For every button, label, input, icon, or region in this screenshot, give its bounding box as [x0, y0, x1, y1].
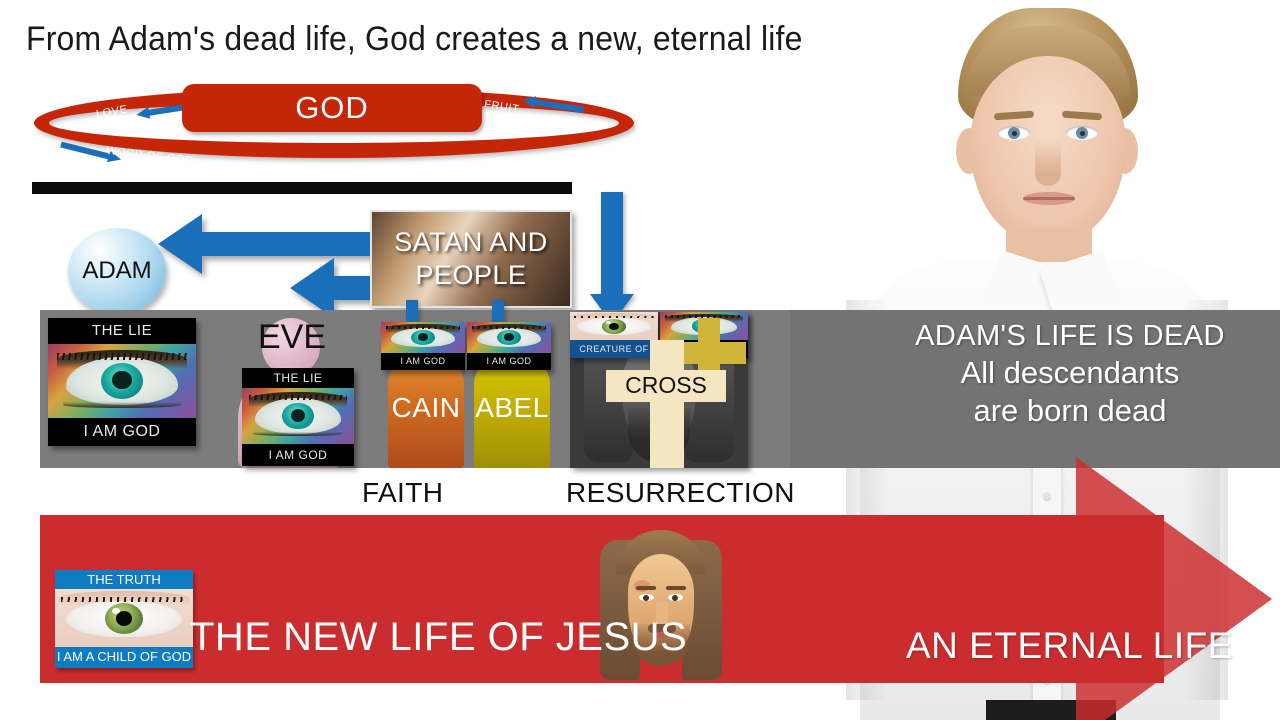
cross-label: CROSS	[606, 368, 726, 402]
eve-lie-card-bottom-caption: I AM GOD	[242, 444, 354, 466]
portrait-nose	[1035, 140, 1061, 186]
slide-title: From Adam's dead life, God creates a new…	[26, 18, 803, 60]
message-line-1: ADAM'S LIFE IS DEAD	[860, 318, 1280, 354]
god-to-cross-arrow-icon	[590, 192, 634, 324]
adam-label: ADAM	[68, 228, 166, 314]
eye-pupil	[418, 333, 429, 340]
eye-artwork-icon	[48, 344, 196, 418]
adams-life-dead-message: ADAM'S LIFE IS DEAD All descendants are …	[860, 318, 1280, 430]
adam-lie-card-top-caption: THE LIE	[48, 318, 196, 344]
eye-lashes	[57, 353, 187, 360]
the-truth-card-bottom-caption: I AM A CHILD OF GOD	[55, 647, 193, 666]
portrait-lip-line	[1023, 197, 1075, 200]
the-truth-card: THE TRUTH I AM A CHILD OF GOD	[55, 570, 193, 668]
new-life-of-jesus-label: THE NEW LIFE OF JESUS	[190, 614, 687, 660]
abel-figure: ABEL	[474, 358, 550, 468]
an-eternal-life-label: AN ETERNAL LIFE	[906, 624, 1233, 668]
cross-symbol: CROSS	[606, 340, 726, 468]
satan-label-line-1: SATAN AND	[394, 226, 548, 259]
eye-lashes	[386, 326, 460, 329]
abel-name-label: ABEL	[474, 392, 550, 424]
jesus-portrait-eyebrow-right	[666, 586, 686, 590]
portrait-shirt-button	[1043, 492, 1051, 500]
god-box: GOD	[182, 84, 482, 132]
eye-artwork-icon	[242, 388, 354, 444]
eve-lie-card-top-caption: THE LIE	[242, 368, 354, 388]
cain-name-label: CAIN	[388, 392, 464, 424]
eye-photo-icon	[55, 589, 193, 647]
eve-lie-card: THE LIE I AM GOD	[242, 368, 354, 466]
satan-to-adam-arrow-bottom-icon	[290, 258, 380, 318]
faith-label: FAITH	[362, 477, 443, 509]
adam-lie-card-bottom-caption: I AM GOD	[48, 418, 196, 446]
eye-lower-lid	[253, 432, 343, 436]
abel-lie-card: I AM GOD	[467, 322, 551, 370]
portrait-pupil-left	[1012, 131, 1017, 136]
message-line-2: All descendants	[860, 354, 1280, 392]
black-divider-bar	[32, 182, 572, 194]
eve-name-label: EVE	[238, 318, 346, 357]
eye-lashes	[61, 597, 188, 602]
portrait-pupil-right	[1080, 131, 1085, 136]
eye-lower-lid	[63, 402, 181, 408]
satan-and-people-box: SATAN AND PEOPLE	[370, 210, 572, 308]
satan-label-line-2: PEOPLE	[415, 259, 526, 292]
eye-pupil	[504, 333, 515, 340]
arrow-shaft	[202, 232, 378, 256]
jesus-portrait-eyebrow-left	[636, 586, 656, 590]
message-line-3: are born dead	[860, 392, 1280, 430]
the-truth-card-top-caption: THE TRUTH	[55, 570, 193, 589]
slide-canvas: From Adam's dead life, God creates a new…	[0, 0, 1280, 720]
arrow-head	[158, 214, 202, 274]
cain-lie-card-bottom-caption: I AM GOD	[381, 353, 465, 370]
eye-lashes	[472, 326, 546, 329]
eye-photo-icon	[570, 312, 658, 340]
adam-lie-card: THE LIE I AM GOD	[48, 318, 196, 446]
adam-sphere: ADAM	[68, 228, 166, 314]
eye-artwork-icon	[381, 322, 465, 353]
resurrection-label: RESURRECTION	[566, 477, 795, 509]
eye-highlight	[112, 608, 120, 614]
cross-vertical-beam	[650, 340, 684, 468]
cain-figure: CAIN	[388, 358, 464, 468]
jesus-portrait-pupil-left	[643, 595, 649, 601]
arrow-head	[135, 107, 150, 121]
arrow-head	[290, 258, 334, 318]
arrow-shaft	[601, 192, 623, 296]
cain-lie-card: I AM GOD	[381, 322, 465, 370]
eye-artwork-icon	[467, 322, 551, 353]
eye-pupil	[609, 323, 620, 330]
eye-pupil	[112, 371, 131, 389]
satan-and-people-label: SATAN AND PEOPLE	[372, 212, 570, 306]
eye-lashes	[249, 395, 348, 401]
abel-lie-card-bottom-caption: I AM GOD	[467, 353, 551, 370]
god-box-label: GOD	[182, 84, 482, 132]
eye-lashes	[574, 316, 655, 319]
jesus-portrait-pupil-right	[672, 595, 678, 601]
arrow-head	[521, 94, 536, 108]
